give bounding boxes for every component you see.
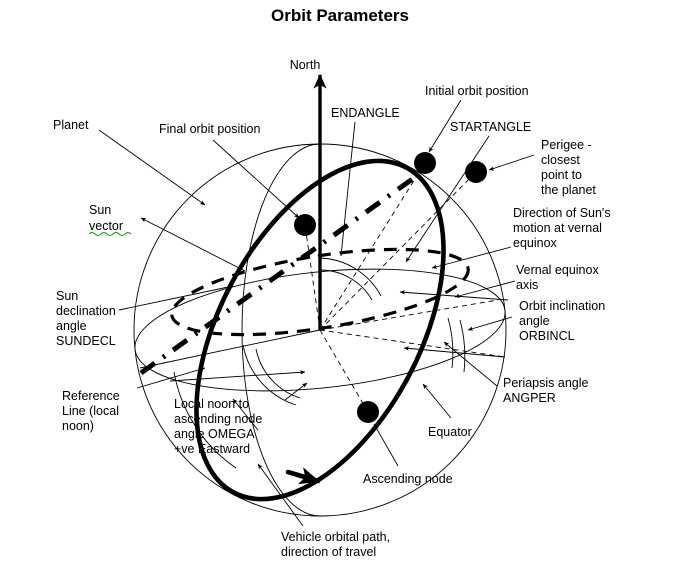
north-label: North <box>290 58 321 72</box>
orbit-direction-arrow <box>288 472 318 481</box>
planet-label: Planet <box>53 118 89 132</box>
svg-text:SUNDECL: SUNDECL <box>56 334 116 348</box>
svg-text:declination: declination <box>56 304 116 318</box>
svg-text:Vernal equinox: Vernal equinox <box>516 263 599 277</box>
orbit-parameters-diagram: Orbit Parameters North <box>0 0 681 580</box>
svg-text:angle: angle <box>56 319 87 333</box>
svg-text:ascending node: ascending node <box>174 412 262 426</box>
svg-text:ANGPER: ANGPER <box>503 391 556 405</box>
sun-motion-direction-label: Direction of Sun's motion at vernal equi… <box>513 206 611 250</box>
svg-text:ORBINCL: ORBINCL <box>519 329 575 343</box>
svg-text:Line (local: Line (local <box>62 404 119 418</box>
svg-text:direction of travel: direction of travel <box>281 545 376 559</box>
svg-text:Reference: Reference <box>62 389 120 403</box>
svg-text:Local noon to: Local noon to <box>174 397 249 411</box>
svg-text:Periapsis angle: Periapsis angle <box>503 376 589 390</box>
svg-text:Perigee -: Perigee - <box>541 138 592 152</box>
perigee-marker <box>465 161 487 183</box>
svg-text:Orbit inclination: Orbit inclination <box>519 299 605 313</box>
svg-text:Sun: Sun <box>89 203 111 217</box>
vernal-equinox-axis-label: Vernal equinox axis <box>516 263 599 292</box>
svg-text:+ve Eastward: +ve Eastward <box>174 442 250 456</box>
vehicle-orbital-path-label: Vehicle orbital path, direction of trave… <box>281 530 390 559</box>
sun-declination-label: Sun declination angle SUNDECL <box>56 289 116 348</box>
reference-line-label: Reference Line (local noon) <box>62 389 120 433</box>
svg-text:point to: point to <box>541 168 582 182</box>
final-orbit-position-label: Final orbit position <box>159 122 260 136</box>
svg-text:the planet: the planet <box>541 183 596 197</box>
svg-text:motion at vernal: motion at vernal <box>513 221 602 235</box>
ascending-node-marker <box>357 401 379 423</box>
sun-vector-label: Sun vector <box>89 203 131 236</box>
svg-text:axis: axis <box>516 278 538 292</box>
initial-orbit-position-label: Initial orbit position <box>425 84 529 98</box>
svg-text:Direction of Sun's: Direction of Sun's <box>513 206 611 220</box>
equator-label: Equator <box>428 425 472 439</box>
svg-text:angle OMEGA: angle OMEGA <box>174 427 255 441</box>
svg-text:closest: closest <box>541 153 580 167</box>
svg-text:vector: vector <box>89 219 123 233</box>
svg-text:Vehicle orbital path,: Vehicle orbital path, <box>281 530 390 544</box>
orbit-inclination-label: Orbit inclination angle ORBINCL <box>519 299 605 343</box>
figure-root: Orbit Parameters North <box>0 0 681 580</box>
startangle-label: STARTANGLE <box>450 120 531 134</box>
endangle-label: ENDANGLE <box>331 106 400 120</box>
svg-text:noon): noon) <box>62 419 94 433</box>
ascending-node-label: Ascending node <box>363 472 453 486</box>
construction-lines <box>140 163 505 412</box>
perigee-label: Perigee - closest point to the planet <box>541 138 596 197</box>
periapsis-angle-label: Periapsis angle ANGPER <box>503 376 589 405</box>
initial-orbit-position-marker <box>414 152 436 174</box>
svg-text:Sun: Sun <box>56 289 78 303</box>
final-orbit-position-marker <box>294 214 316 236</box>
svg-text:angle: angle <box>519 314 550 328</box>
page-title: Orbit Parameters <box>271 6 409 25</box>
svg-text:equinox: equinox <box>513 236 558 250</box>
